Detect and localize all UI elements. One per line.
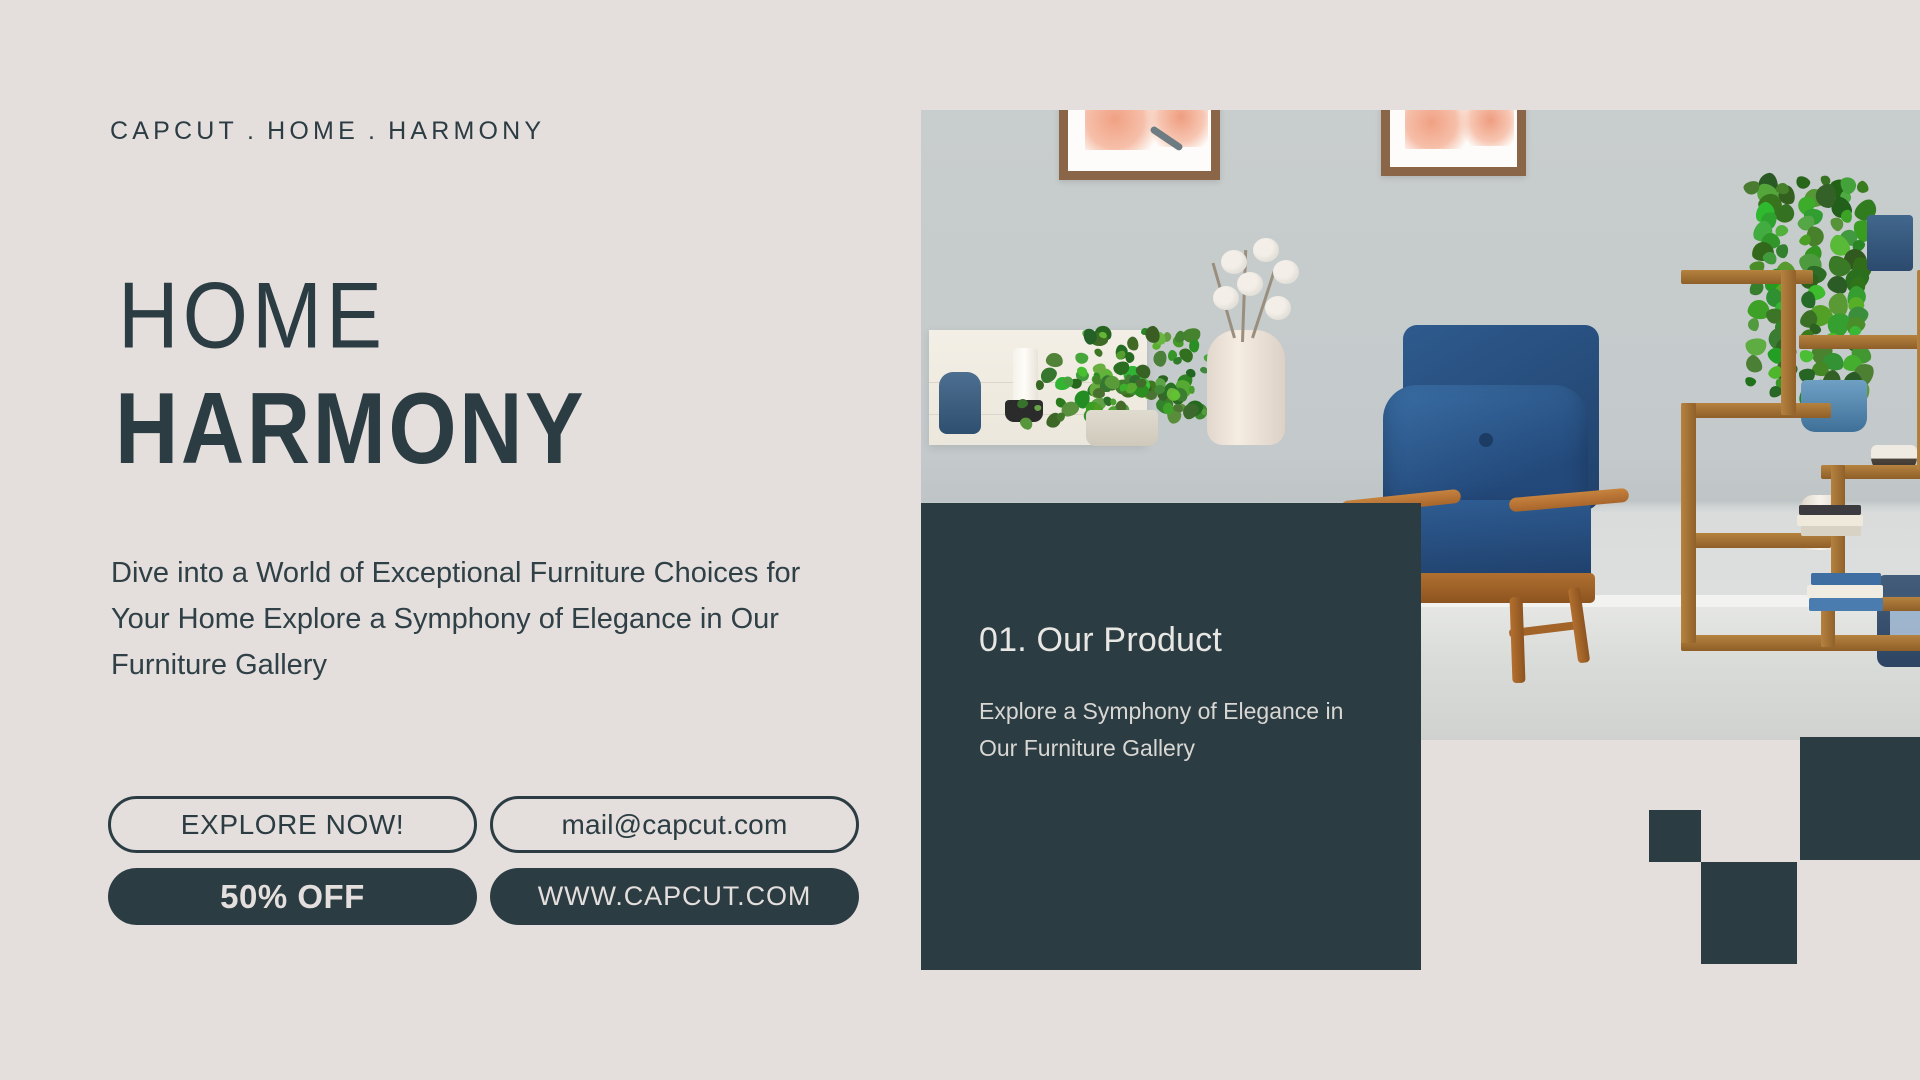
cta-row-primary: EXPLORE NOW! mail@capcut.com (108, 796, 859, 853)
decorative-square (1701, 862, 1797, 964)
shelf-plank (1681, 403, 1831, 418)
shelf-book (1797, 515, 1863, 526)
wooden-shelving-unit (1681, 165, 1920, 655)
vine-leaf (1743, 353, 1765, 376)
vine-leaf (1748, 318, 1760, 331)
framed-artwork-right (1381, 110, 1526, 176)
page-title-line-2: HARMONY (115, 378, 586, 479)
artwork-blob (1461, 110, 1514, 146)
shelf-book (1809, 598, 1883, 611)
breadcrumb-item-capcut: CAPCUT (110, 117, 238, 145)
fern-leaf (1093, 388, 1105, 399)
website-link-button[interactable]: WWW.CAPCUT.COM (490, 868, 859, 925)
cta-row-secondary: 50% OFF WWW.CAPCUT.COM (108, 868, 859, 925)
left-content-column: CAPCUT.HOME.HARMONY HOME HARMONY Dive in… (0, 0, 921, 1080)
decorative-square (1800, 737, 1920, 860)
glass-candle-jar (1877, 575, 1920, 667)
product-card-title: 01. Our Product (979, 621, 1222, 660)
vine-leaf (1744, 375, 1757, 387)
breadcrumb-separator: . (238, 117, 267, 145)
vine-leaf (1745, 337, 1767, 356)
pillar-candle (1013, 348, 1038, 402)
cotton-boll (1221, 250, 1247, 274)
blue-tumbler (1867, 215, 1913, 271)
cotton-stem-vase (1207, 330, 1285, 445)
breadcrumb: CAPCUT.HOME.HARMONY (110, 117, 545, 146)
page-title-line-1: HOME (118, 268, 386, 362)
breadcrumb-item-home: HOME (267, 117, 359, 145)
shelf-plank (1799, 335, 1920, 349)
trailing-plant (1739, 175, 1889, 405)
vine-leaf (1816, 183, 1837, 208)
fern-leaf (1034, 405, 1042, 411)
cotton-boll (1237, 272, 1263, 296)
shelf-book (1807, 585, 1883, 598)
shelf-book (1799, 505, 1861, 515)
product-info-card: 01. Our Product Explore a Symphony of El… (921, 503, 1421, 970)
discount-badge-button[interactable]: 50% OFF (108, 868, 477, 925)
vine-leaf (1854, 179, 1869, 195)
cotton-boll (1273, 260, 1299, 284)
cotton-boll (1213, 286, 1239, 310)
shelf-book (1801, 526, 1861, 536)
fern-leaf (1045, 352, 1064, 369)
shelf-book (1811, 573, 1881, 585)
fern-leaf (1189, 339, 1201, 353)
cushion-tuft-button (1479, 433, 1493, 447)
hero-paragraph: Dive into a World of Exceptional Furnitu… (111, 550, 851, 688)
fern-planter (1086, 410, 1158, 446)
decorative-square (1649, 810, 1701, 862)
cta-button-group: EXPLORE NOW! mail@capcut.com 50% OFF WWW… (108, 796, 859, 940)
email-contact-button[interactable]: mail@capcut.com (490, 796, 859, 853)
breadcrumb-item-harmony: HARMONY (388, 117, 545, 145)
chair-leg (1510, 597, 1526, 683)
fern-leaf (1093, 346, 1104, 358)
cotton-boll (1265, 296, 1291, 320)
explore-now-button[interactable]: EXPLORE NOW! (108, 796, 477, 853)
fern-leaf (1152, 350, 1167, 368)
shelf-plank (1681, 635, 1920, 651)
blue-vase (939, 372, 981, 434)
breadcrumb-separator: . (359, 117, 388, 145)
framed-artwork-left (1059, 110, 1220, 180)
fern-leaf (1189, 387, 1195, 395)
shelf-post (1781, 270, 1796, 415)
cotton-boll (1253, 238, 1279, 262)
fern-leaf (1074, 352, 1089, 365)
product-card-description: Explore a Symphony of Elegance in Our Fu… (979, 693, 1359, 767)
shelf-post (1681, 403, 1696, 643)
